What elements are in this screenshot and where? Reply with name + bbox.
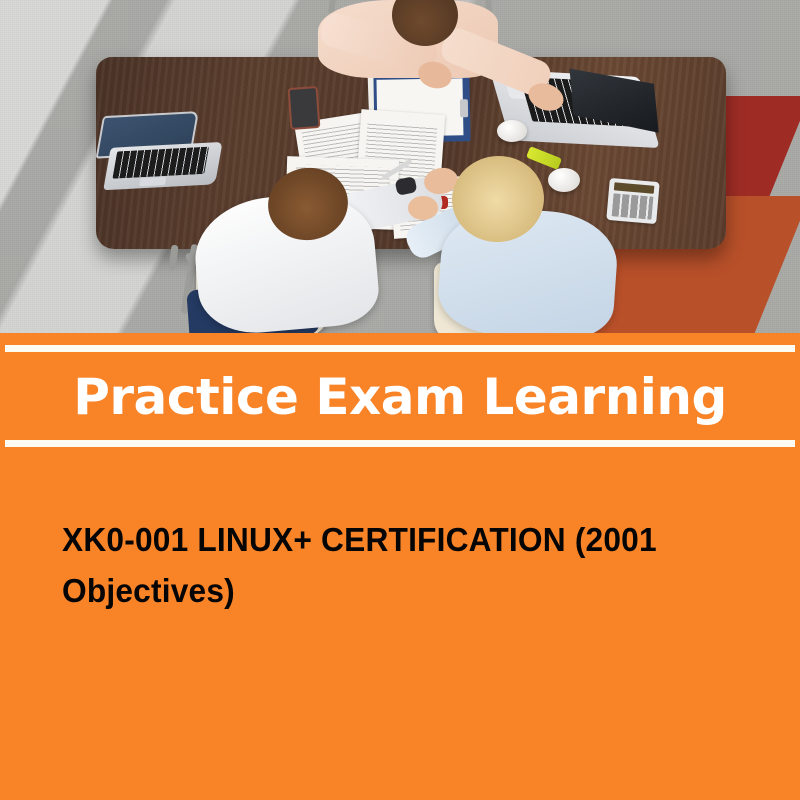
calculator-keys xyxy=(612,193,654,219)
smartphone-icon xyxy=(288,86,321,130)
header-photo xyxy=(0,0,800,333)
clipboard-clip xyxy=(460,99,468,117)
calculator-icon xyxy=(606,178,659,224)
banner-rule-bottom xyxy=(5,440,795,447)
banner-rule-top xyxy=(5,345,795,352)
person-hand xyxy=(408,196,438,220)
calculator-display xyxy=(614,182,655,193)
cup-icon xyxy=(497,120,527,142)
cup-icon xyxy=(548,168,580,192)
laptop-trackpad xyxy=(139,177,166,186)
poster-canvas: Practice Exam Learning XK0-001 LINUX+ CE… xyxy=(0,0,800,800)
poster-body: Practice Exam Learning XK0-001 LINUX+ CE… xyxy=(0,333,800,800)
laptop-keyboard xyxy=(112,147,209,179)
page-title: XK0-001 LINUX+ CERTIFICATION (2001 Objec… xyxy=(62,514,724,616)
banner-title: Practice Exam Learning xyxy=(0,359,800,435)
laptop-icon xyxy=(98,110,230,189)
